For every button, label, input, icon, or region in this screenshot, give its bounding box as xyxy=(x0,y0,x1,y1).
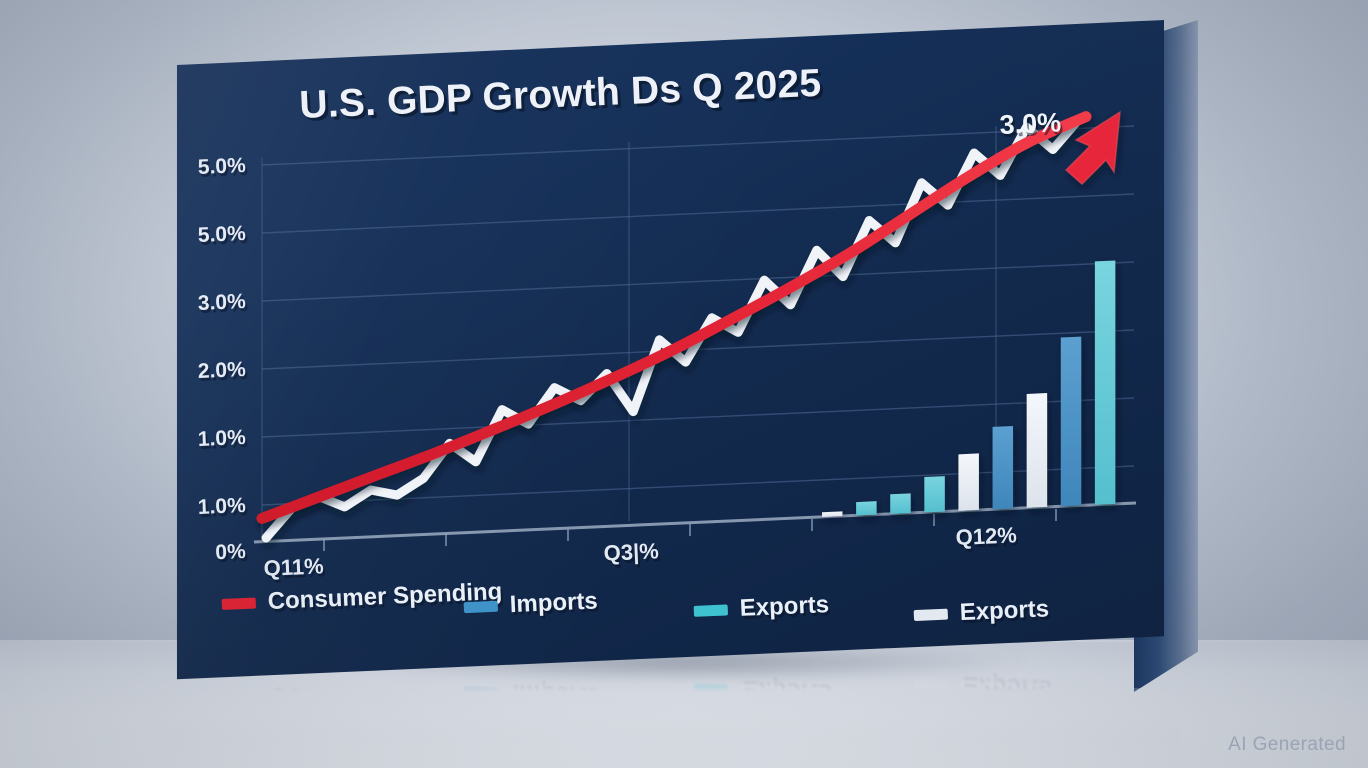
bar xyxy=(958,453,978,510)
x-axis-tick-label: Q3|% xyxy=(603,538,659,565)
x-axis-tick-label: Q12% xyxy=(955,522,1017,550)
legend-swatch-icon xyxy=(464,601,498,613)
x-tick-marks xyxy=(324,509,1056,551)
ai-generated-watermark: AI Generated xyxy=(1228,734,1346,756)
bar xyxy=(890,493,910,514)
legend-item[interactable]: ExportsExports xyxy=(693,591,832,627)
legend-label: Imports xyxy=(509,587,598,618)
chart-legend: Consumer SpendingConsumer SpendingImport… xyxy=(221,578,1052,631)
y-axis-tick-label: 5.0% xyxy=(197,154,246,179)
legend-swatch-icon xyxy=(914,609,948,621)
gdp-growth-chart: U.S. GDP Growth Ds Q 2025 U.S. GDP Growt… xyxy=(174,18,1164,690)
gridline xyxy=(262,262,1134,301)
svg-text:3.0%: 3.0% xyxy=(999,107,1062,140)
legend-label: Exports xyxy=(959,595,1049,626)
y-axis-labels: 5.0%5.0%5.0%5.0%3.0%3.0%2.0%2.0%1.0%1.0%… xyxy=(197,154,248,567)
legend-item[interactable]: ExportsExports xyxy=(913,595,1052,631)
legend-swatch-icon xyxy=(222,598,256,610)
end-value-annotation: 3.0% 3.0% xyxy=(999,107,1064,143)
y-axis-tick-label: 0% xyxy=(215,540,247,564)
legend-label: Exports xyxy=(739,591,829,622)
y-axis-tick-label: 5.0% xyxy=(197,222,246,247)
bar xyxy=(856,501,876,515)
y-axis-tick-label: 2.0% xyxy=(197,358,246,383)
chart-container: U.S. GDP Growth Ds Q 2025 U.S. GDP Growt… xyxy=(174,18,1164,690)
x-axis-tick-label: Q11% xyxy=(263,553,324,581)
scene-root: U.S. GDP Growth Ds Q 2025 U.S. GDP Growt… xyxy=(0,0,1368,768)
bar xyxy=(1027,393,1047,508)
legend-swatch-icon xyxy=(694,604,728,616)
chart-title: U.S. GDP Growth Ds Q 2025 U.S. GDP Growt… xyxy=(299,62,826,130)
bar xyxy=(924,476,944,512)
y-axis-tick-label: 1.0% xyxy=(197,426,246,451)
y-axis-tick-label: 1.0% xyxy=(197,494,246,519)
legend-item[interactable]: Consumer SpendingConsumer Spending xyxy=(221,578,505,620)
bar xyxy=(822,511,842,517)
bar xyxy=(1095,260,1115,504)
x-axis-labels: Q11%Q11%Q3|%Q3|%Q12%Q12% xyxy=(263,522,1019,584)
y-axis-tick-label: 3.0% xyxy=(197,290,246,315)
bar xyxy=(993,426,1013,509)
gridline xyxy=(262,194,1134,233)
bar xyxy=(1061,337,1081,507)
